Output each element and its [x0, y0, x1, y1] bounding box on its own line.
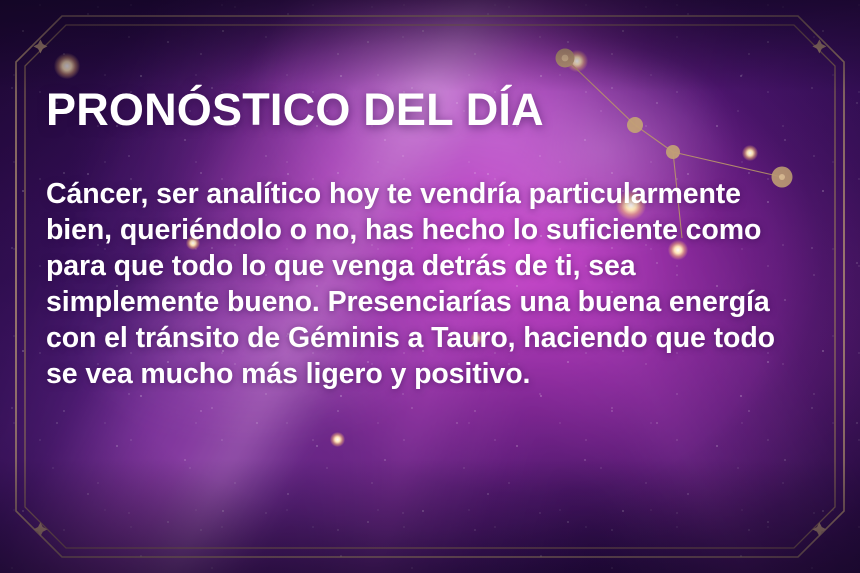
- page-title: PRONÓSTICO DEL DÍA: [46, 86, 826, 134]
- horoscope-poster: PRONÓSTICO DEL DÍA Cáncer, ser analítico…: [0, 0, 860, 573]
- poster-content: PRONÓSTICO DEL DÍA Cáncer, ser analítico…: [46, 86, 826, 392]
- horoscope-body-text: Cáncer, ser analítico hoy te vendría par…: [46, 134, 811, 392]
